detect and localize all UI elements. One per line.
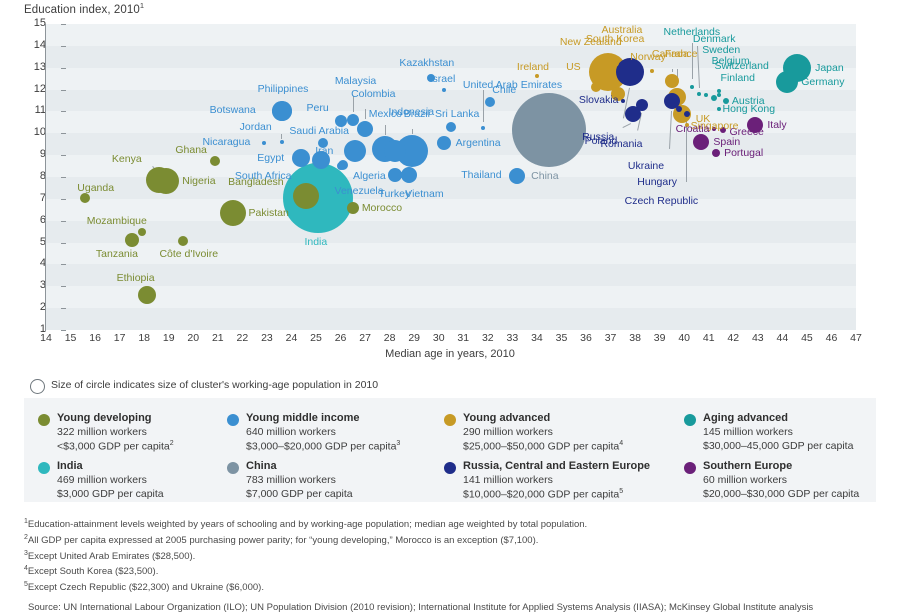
x-axis-tick-label: 34: [527, 332, 547, 344]
footnote-list: 1Education-attainment levels weighted by…: [24, 516, 884, 595]
bubble-label-mozambique: Mozambique: [87, 216, 147, 227]
bubble-label-thailand: Thailand: [461, 170, 501, 181]
x-axis-tick-label: 35: [551, 332, 571, 344]
x-axis-tick-label: 20: [183, 332, 203, 344]
legend-item-gdp: $20,000–$30,000 GDP per capita: [703, 488, 859, 500]
y-axis-tick-mark: [61, 111, 66, 112]
legend-item-workers: 322 million workers: [57, 426, 147, 438]
footnote: 5Except Czech Republic ($22,300) and Ukr…: [24, 579, 884, 595]
x-axis-tick-label: 14: [36, 332, 56, 344]
bubble-label-united-arab-emirates: United Arab Emirates: [463, 80, 562, 91]
bubble-label-malaysia: Malaysia: [335, 76, 376, 87]
legend-footnote-ref: 5: [619, 488, 623, 495]
footnote-marker: 2: [24, 534, 28, 541]
bubble-label-hungary: Hungary: [637, 177, 677, 188]
y-axis-tick-mark: [61, 308, 66, 309]
bubble-label-norway: Norway: [630, 52, 666, 63]
legend-item-name: Southern Europe: [703, 460, 792, 472]
bubble-label-germany: Germany: [801, 77, 844, 88]
bubble-label-jordan: Jordan: [240, 122, 272, 133]
x-axis-tick-label: 46: [821, 332, 841, 344]
legend-item-name: Aging advanced: [703, 412, 788, 424]
bubble-label-colombia: Colombia: [351, 89, 395, 100]
footnote: 3Except United Arab Emirates ($28,500).: [24, 548, 884, 564]
bubble-label-indonesia: Indonesia: [389, 107, 435, 118]
bubble-label-philippines: Philippines: [258, 84, 309, 95]
footnote: 2All GDP per capita expressed at 2005 pu…: [24, 532, 884, 548]
bubble-label-czech-republic: Czech Republic: [625, 196, 699, 207]
y-axis-tick-label: 2: [24, 302, 46, 313]
bubble-label-new-zealand: New Zealand: [560, 37, 622, 48]
y-axis-tick-label: 13: [24, 62, 46, 73]
bubble-label-c-te-d-ivoire: Côte d'Ivoire: [159, 249, 218, 260]
bubble-label-ethiopia: Ethiopia: [117, 273, 155, 284]
bubble-label-nicaragua: Nicaragua: [202, 137, 250, 148]
legend-footnote-ref: 2: [170, 440, 174, 447]
bubble-label-hong-kong: Hong Kong: [723, 104, 776, 115]
y-axis-tick-mark: [61, 155, 66, 156]
legend-item-gdp: $3,000–$20,000 GDP per capita3: [246, 440, 400, 453]
x-axis-tick-label: 17: [110, 332, 130, 344]
legend-item-gdp: <$3,000 GDP per capita2: [57, 440, 174, 453]
legend-swatch-icon: [684, 462, 696, 474]
y-axis-tick-mark: [61, 221, 66, 222]
x-axis-tick-label: 33: [502, 332, 522, 344]
bubble-label-china: China: [531, 171, 558, 182]
bubble-label-ukraine: Ukraine: [628, 161, 664, 172]
legend-item-workers: 783 million workers: [246, 474, 336, 486]
y-axis-tick-label: 12: [24, 84, 46, 95]
x-axis-tick-label: 41: [699, 332, 719, 344]
bubble-label-italy: Italy: [767, 120, 786, 131]
legend-item-name: Young developing: [57, 412, 152, 424]
bubble-label-kenya: Kenya: [112, 154, 142, 165]
x-axis-tick-label: 43: [748, 332, 768, 344]
x-axis-tick-label: 39: [650, 332, 670, 344]
bubble-label-india: India: [304, 237, 327, 248]
x-axis-tick-label: 21: [208, 332, 228, 344]
legend-item-gdp: $25,000–$50,000 GDP per capita4: [463, 440, 623, 453]
bubble-label-algeria: Algeria: [353, 171, 386, 182]
y-axis-tick-label: 3: [24, 280, 46, 291]
legend-swatch-icon: [227, 414, 239, 426]
y-axis: 123456789101112131415: [20, 18, 46, 336]
chart-title-text: Education index, 2010: [24, 4, 140, 16]
bubble-label-peru: Peru: [307, 103, 329, 114]
size-legend-text: Size of circle indicates size of cluster…: [51, 379, 378, 391]
legend-item-name: Young advanced: [463, 412, 550, 424]
x-axis-tick-label: 15: [61, 332, 81, 344]
legend-swatch-icon: [38, 462, 50, 474]
y-axis-tick-mark: [61, 330, 66, 331]
label-layer: ChinaIndiaUSBrazilRussiaJapanKenyaNigeri…: [46, 24, 856, 330]
x-axis: 1415161718192021222324252627282930313233…: [0, 332, 900, 348]
y-axis-tick-mark: [61, 286, 66, 287]
bubble-label-pakistan: Pakistan: [249, 208, 289, 219]
y-axis-tick-label: 9: [24, 149, 46, 160]
x-axis-tick-label: 19: [159, 332, 179, 344]
y-axis-tick-label: 7: [24, 193, 46, 204]
legend-item-name: China: [246, 460, 277, 472]
legend-item-workers: 469 million workers: [57, 474, 147, 486]
y-axis-tick-mark: [61, 90, 66, 91]
page-title: Education index, 20101: [24, 1, 144, 16]
y-axis-tick-label: 5: [24, 237, 46, 248]
bubble-label-us: US: [566, 62, 581, 73]
y-axis-tick-mark: [61, 46, 66, 47]
y-axis-tick-label: 4: [24, 258, 46, 269]
bubble-label-japan: Japan: [815, 63, 844, 74]
y-axis-tick-mark: [61, 199, 66, 200]
x-axis-tick-label: 25: [306, 332, 326, 344]
footnote: 4Except South Korea ($23,500).: [24, 563, 884, 579]
legend-item-workers: 640 million workers: [246, 426, 336, 438]
bubble-label-kazakhstan: Kazakhstan: [399, 58, 454, 69]
legend-item-name: Young middle income: [246, 412, 359, 424]
bubble-label-egypt: Egypt: [257, 153, 284, 164]
y-axis-tick-label: 8: [24, 171, 46, 182]
x-axis-tick-label: 40: [674, 332, 694, 344]
size-legend-circle-icon: [30, 379, 45, 394]
x-axis-tick-label: 38: [625, 332, 645, 344]
legend-swatch-icon: [227, 462, 239, 474]
legend-item-workers: 145 million workers: [703, 426, 793, 438]
x-axis-tick-label: 31: [453, 332, 473, 344]
bubble-label-ireland: Ireland: [517, 62, 549, 73]
legend-item-name: Russia, Central and Eastern Europe: [463, 460, 650, 472]
x-axis-tick-label: 37: [601, 332, 621, 344]
chart-title-footnote-ref: 1: [140, 1, 144, 10]
bubble-label-argentina: Argentina: [456, 138, 501, 149]
legend-item-workers: 290 million workers: [463, 426, 553, 438]
x-axis-tick-label: 23: [257, 332, 277, 344]
y-axis-tick-mark: [61, 177, 66, 178]
legend-footnote-ref: 3: [396, 440, 400, 447]
chart-page: Education index, 20101 ChinaIndiaUSBrazi…: [0, 0, 900, 614]
footnote-marker: 4: [24, 565, 28, 572]
x-axis-tick-label: 18: [134, 332, 154, 344]
x-axis-tick-label: 28: [380, 332, 400, 344]
footnotes: 1Education-attainment levels weighted by…: [24, 516, 884, 614]
y-axis-line: [45, 24, 46, 331]
bubble-label-uganda: Uganda: [77, 183, 114, 194]
legend-item-gdp: $10,000–$20,000 GDP per capita5: [463, 488, 623, 501]
legend-item-gdp: $30,000–45,000 GDP per capita: [703, 440, 853, 452]
x-axis-tick-label: 44: [772, 332, 792, 344]
y-axis-tick-label: 14: [24, 40, 46, 51]
bubble-label-finland: Finland: [721, 73, 755, 84]
plot-area: ChinaIndiaUSBrazilRussiaJapanKenyaNigeri…: [46, 24, 856, 330]
bubble-label-sweden: Sweden: [702, 45, 740, 56]
x-axis-tick-label: 24: [281, 332, 301, 344]
y-axis-tick-mark: [61, 264, 66, 265]
x-axis-tick-label: 42: [723, 332, 743, 344]
legend-panel: Young developing322 million workers<$3,0…: [24, 398, 876, 502]
legend-swatch-icon: [444, 462, 456, 474]
y-axis-tick-label: 6: [24, 215, 46, 226]
legend-item-workers: 60 million workers: [703, 474, 787, 486]
bubble-label-sri-lanka: Sri Lanka: [435, 109, 479, 120]
bubble-label-venezuela: Venezuela: [335, 186, 384, 197]
x-axis-tick-label: 27: [355, 332, 375, 344]
footnote-marker: 1: [24, 518, 28, 525]
legend-swatch-icon: [38, 414, 50, 426]
bubble-label-australia: Australia: [601, 25, 642, 36]
x-axis-tick-label: 29: [404, 332, 424, 344]
x-axis-tick-label: 22: [232, 332, 252, 344]
y-axis-tick-label: 15: [24, 18, 46, 29]
y-axis-tick-label: 11: [24, 105, 46, 116]
y-axis-tick-mark: [61, 243, 66, 244]
footnote: 1Education-attainment levels weighted by…: [24, 516, 884, 532]
bubble-label-iran: Iran: [315, 146, 333, 157]
y-axis-tick-label: 10: [24, 127, 46, 138]
x-axis-tick-label: 36: [576, 332, 596, 344]
legend-swatch-icon: [684, 414, 696, 426]
x-axis-tick-label: 30: [429, 332, 449, 344]
footnote-marker: 3: [24, 550, 28, 557]
bubble-label-botswana: Botswana: [210, 105, 256, 116]
legend-item-name: India: [57, 460, 83, 472]
bubble-label-romania: Romania: [600, 139, 642, 150]
bubble-label-tanzania: Tanzania: [96, 249, 138, 260]
x-axis-tick-label: 47: [846, 332, 866, 344]
x-axis-tick-label: 16: [85, 332, 105, 344]
size-legend: Size of circle indicates size of cluster…: [30, 378, 730, 396]
legend-footnote-ref: 4: [619, 440, 623, 447]
x-axis-tick-label: 26: [331, 332, 351, 344]
bubble-label-saudi-arabia: Saudi Arabia: [289, 126, 349, 137]
x-axis-tick-label: 45: [797, 332, 817, 344]
bubble-label-nigeria: Nigeria: [182, 176, 215, 187]
y-axis-tick-mark: [61, 133, 66, 134]
bubble-label-switzerland: Switzerland: [715, 61, 769, 72]
legend-item-gdp: $7,000 GDP per capita: [246, 488, 353, 500]
legend-item-gdp: $3,000 GDP per capita: [57, 488, 164, 500]
legend-swatch-icon: [444, 414, 456, 426]
x-axis-tick-label: 32: [478, 332, 498, 344]
source-note: Source: UN International Labour Organiza…: [24, 602, 884, 614]
bubble-label-vietnam: Vietnam: [405, 189, 443, 200]
bubble-label-croatia: Croatia: [676, 124, 710, 135]
x-axis-title: Median age in years, 2010: [0, 348, 900, 360]
y-axis-tick-mark: [61, 68, 66, 69]
bubble-label-portugal: Portugal: [724, 148, 763, 159]
bubble-label-slovakia: Slovakia: [579, 95, 619, 106]
y-axis-tick-mark: [61, 24, 66, 25]
bubble-label-south-africa: South Africa: [235, 171, 292, 182]
footnote-marker: 5: [24, 581, 28, 588]
bubble-label-israel: Israel: [430, 74, 456, 85]
bubble-label-morocco: Morocco: [362, 203, 402, 214]
legend-item-workers: 141 million workers: [463, 474, 553, 486]
